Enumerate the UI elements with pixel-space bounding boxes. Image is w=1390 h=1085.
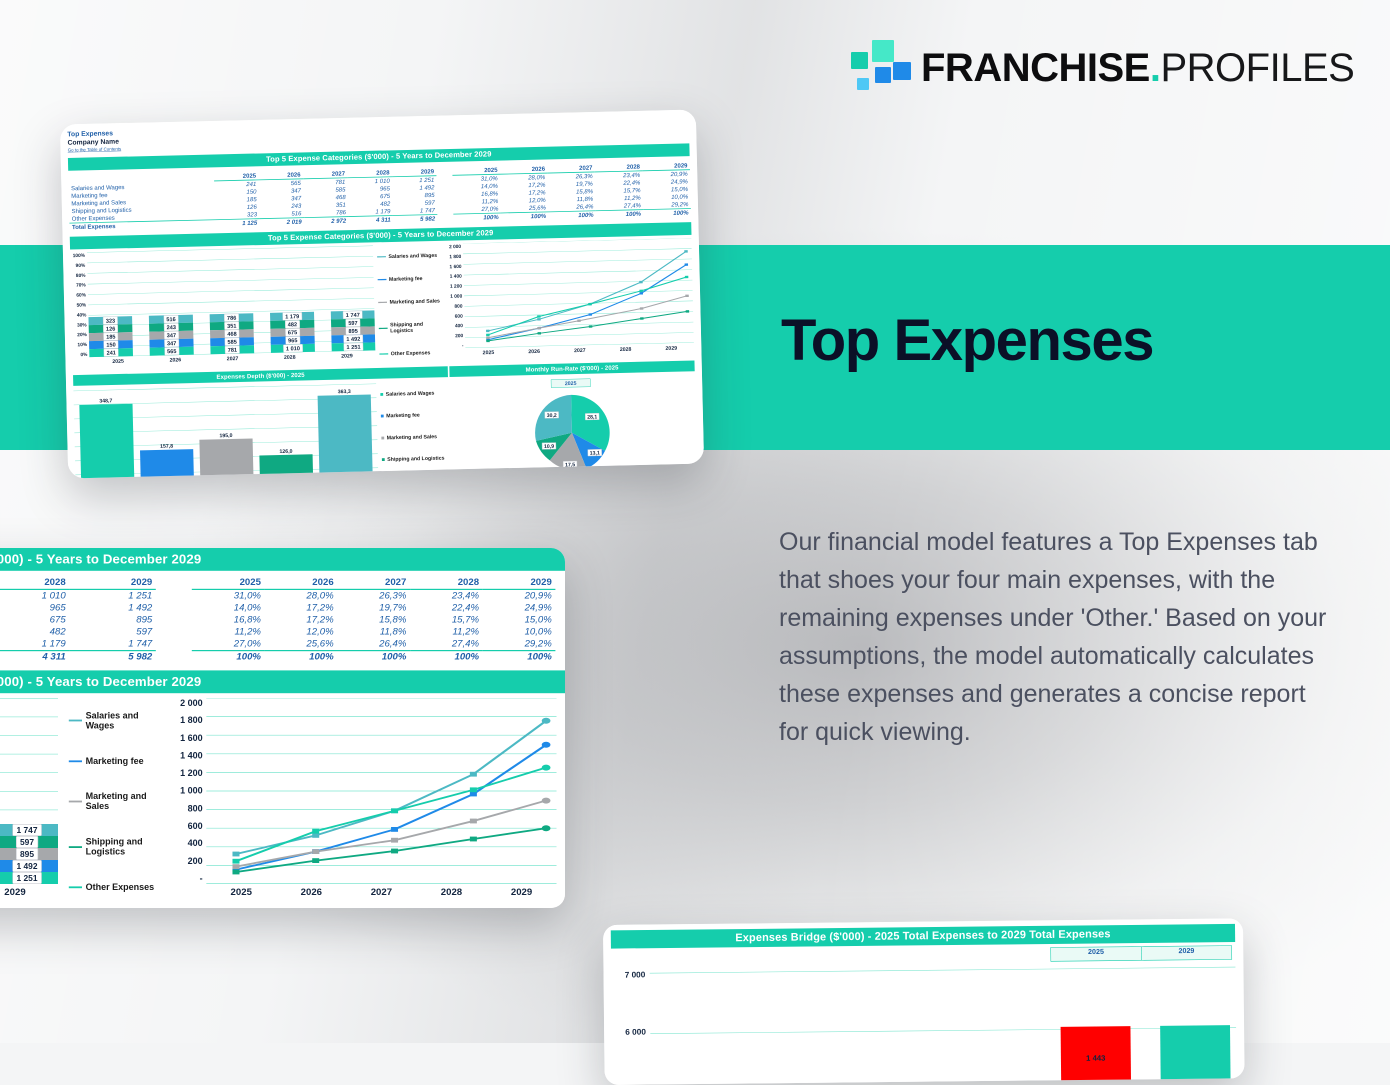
depth-bar-marketing-sales: 195,0	[199, 432, 254, 479]
br-waterfall-chart: 706 471 1 443	[650, 964, 1238, 1085]
expense-categories-screenshot-card: Top 5 Expense Categories ($'000) - 5 Yea…	[0, 548, 565, 908]
pie-svg: 28,1 13,1 17,5 10,9 30,2	[528, 389, 616, 477]
stacked-column-2026: 516 243 347 347 565	[149, 315, 194, 356]
table-row: 31,0%28,0%26,3%23,4%20,9%	[192, 589, 556, 602]
br-y-axis: 7 000 6 000 5 000 4 000	[611, 970, 651, 1085]
bl-stacked-x-axis: 202720282029	[0, 887, 58, 898]
legend-item: Shipping and Logistics	[379, 321, 445, 335]
bl-line-svg	[206, 698, 556, 884]
legend-item: Other Expenses	[69, 882, 169, 892]
legend-marker-icon	[377, 256, 386, 257]
svg-text:13,1: 13,1	[590, 451, 600, 457]
bl-line-y-axis: 2 0001 800 1 6001 400 1 2001 000 800600 …	[169, 698, 206, 884]
legend-item: Salaries and Wages	[380, 390, 446, 398]
bl-band-main: Top 5 Expense Categories ($'000) - 5 Yea…	[0, 548, 565, 571]
bl-line-x-axis: 20252026202720282029	[206, 887, 556, 898]
runrate-pie-chart: 2025 28,1 13,1 17,5 10,9 30,2	[446, 376, 697, 478]
page-title: Top Expenses	[781, 312, 1153, 370]
stacked-column-2025: 323 126 185 150 241	[88, 316, 133, 357]
legend-item: Marketing and Sales	[378, 298, 444, 306]
wf-bar-4: 1 443	[1060, 1026, 1131, 1085]
stacked-chart-legend: Salaries and Wages Marketing fee Marketi…	[373, 244, 446, 366]
depth-bar-other: 363,3	[318, 388, 373, 479]
bl-band-chart: Top 5 Expense Categories ($'000) - 5 Yea…	[0, 670, 565, 693]
br-legend-2025: 2025	[1051, 947, 1141, 961]
logo-word-profiles: PROFILES	[1160, 46, 1354, 90]
expenses-depth-bar-chart: 348,7 157,8 195,0	[73, 384, 378, 479]
logo-wordmark: FRANCHISE.PROFILES	[921, 48, 1354, 88]
expense-values-table: 2025 2026 2027 2028 2029 Salaries and Wa…	[68, 168, 437, 231]
stacked-column-2027: 786 351 468 585 781	[210, 313, 255, 354]
bottom-left-spreadsheet: Top 5 Expense Categories ($'000) - 5 Yea…	[0, 548, 565, 908]
table-header-row: 2025 2026 2027 2028 2029	[192, 577, 556, 590]
brand-logo: FRANCHISE.PROFILES	[851, 40, 1354, 96]
pie-legend-2025: 2025	[551, 379, 591, 388]
bl-runrate-line-chart: 2 0001 800 1 6001 400 1 2001 000 800600 …	[169, 698, 565, 905]
br-legend-2029: 2029	[1141, 946, 1232, 960]
wf-bar-2029	[1160, 1025, 1232, 1085]
legend-item: Salaries and Wages	[69, 710, 169, 731]
line-chart-svg	[463, 238, 694, 348]
table-row: 347468675895	[0, 614, 156, 626]
table-row: 27,0%25,6%26,4%27,4%29,2%	[192, 638, 556, 651]
stacked-column-chart: 323 126 185 150 241 516 243 347	[87, 246, 376, 358]
expense-percent-table: 2025 2026 2027 2028 2029 31,0%28,0%26,3%…	[452, 162, 691, 222]
table-total-row: 100%100%100%100%100%	[192, 651, 556, 664]
bl-stacked-column-2029: 1 747 597 895 1 492 1 251	[0, 824, 58, 884]
depth-bar-marketing-fee: 157,8	[140, 442, 194, 478]
logo-dot: .	[1150, 46, 1161, 90]
table-total-row: 2 0192 9724 3115 982	[0, 651, 156, 664]
legend-marker-icon	[379, 327, 388, 328]
bottom-right-spreadsheet: Expenses Bridge ($'000) - 2025 Total Exp…	[603, 918, 1245, 1085]
legend-item: Shipping and Logistics	[69, 837, 169, 858]
stacked-column-2029: 1 747 597 895 1 492 1 251	[331, 310, 376, 351]
table-row: 5167861 1791 747	[0, 638, 156, 651]
svg-text:10,9: 10,9	[544, 444, 554, 450]
stacked-column-2028: 1 179 482 675 965 1 010	[270, 312, 315, 353]
top-expenses-screenshot-card: Top Expenses Company Name Go to the Tabl…	[60, 110, 704, 479]
top-card-spreadsheet: Top Expenses Company Name Go to the Tabl…	[60, 110, 704, 479]
svg-text:30,2: 30,2	[547, 413, 557, 419]
table-header-row: 2026 2027 2028 2029	[0, 577, 156, 590]
table-row: 16,8%17,2%15,8%15,7%15,0%	[192, 614, 556, 626]
hero-paragraph: Our financial model features a Top Expen…	[779, 523, 1339, 751]
bl-percent-table: 2025 2026 2027 2028 2029 31,0%28,0%26,3%…	[192, 577, 556, 663]
legend-item: Other Expenses	[380, 350, 446, 358]
bl-chart-legend: Salaries and Wages Marketing fee Marketi…	[58, 698, 169, 905]
table-row: 243351482597	[0, 626, 156, 638]
svg-text:28,1: 28,1	[587, 414, 597, 420]
legend-item: Shipping and Logistics	[382, 455, 448, 463]
depth-bar-salaries: 348,7	[79, 397, 134, 478]
table-row: 11,2%12,0%11,8%11,2%10,0%	[192, 626, 556, 638]
br-legend: 2025 2029	[1050, 945, 1232, 961]
logo-word-franchise: FRANCHISE	[921, 46, 1150, 90]
line-chart-y-axis: 2 0001 800 1 6001 400 1 2001 000 800600 …	[443, 244, 465, 349]
legend-item: Marketing and Sales	[69, 791, 169, 812]
legend-marker-icon	[378, 302, 387, 303]
table-row: 3475859651 492	[0, 602, 156, 614]
expenses-bridge-screenshot-card: Expenses Bridge ($'000) - 2025 Total Exp…	[603, 918, 1245, 1085]
legend-item: Marketing fee	[381, 412, 447, 420]
logo-mark-icon	[851, 40, 907, 96]
legend-item: Marketing fee	[378, 275, 444, 283]
legend-item: Marketing and Sales	[381, 433, 447, 441]
table-row: 14,0%17,2%19,7%22,4%24,9%	[192, 602, 556, 614]
legend-marker-icon	[378, 279, 387, 280]
bl-stacked-column-chart: 786 351 468 585 781 1 179 482 675 965	[0, 698, 58, 884]
depth-chart-legend: Salaries and Wages Marketing fee Marketi…	[376, 382, 449, 478]
legend-item: Salaries and Wages	[377, 252, 443, 260]
table-row: 5657811 0101 251	[0, 589, 156, 602]
legend-marker-icon	[380, 353, 389, 354]
runrate-line-chart-top: 2 0001 800 1 6001 400 1 2001 000 800600 …	[443, 238, 694, 364]
legend-item: Marketing fee	[69, 756, 169, 766]
bl-values-table: 2026 2027 2028 2029 5657811 0101 251 347…	[0, 577, 156, 663]
